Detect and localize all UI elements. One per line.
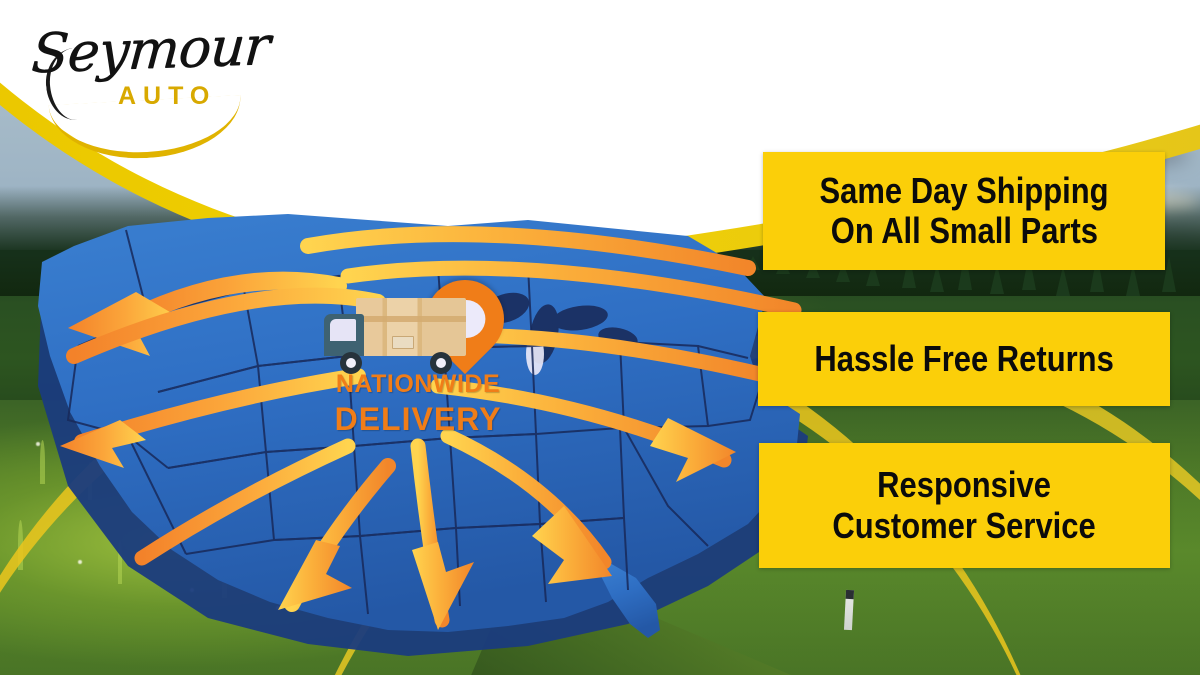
nationwide-delivery-badge: NATIONWIDE DELIVERY — [318, 276, 518, 446]
message-box-hassle-free-returns[interactable]: Hassle Free Returns — [758, 312, 1170, 406]
logo-brand-name: Seymour — [29, 14, 271, 85]
truck-window — [330, 319, 356, 341]
message-box-same-day-shipping[interactable]: Same Day Shipping On All Small Parts — [763, 152, 1165, 270]
badge-text-block: NATIONWIDE DELIVERY — [318, 372, 518, 435]
message-line: Hassle Free Returns — [814, 339, 1113, 379]
message-box-responsive-customer-service[interactable]: Responsive Customer Service — [759, 443, 1170, 568]
brand-logo[interactable]: Seymour AUTO — [26, 16, 256, 128]
message-line: On All Small Parts — [830, 211, 1097, 251]
message-line: Customer Service — [833, 506, 1096, 546]
badge-line-delivery: DELIVERY — [318, 403, 518, 435]
message-line: Same Day Shipping — [819, 171, 1108, 211]
logo-brand-sub: AUTO — [118, 82, 216, 111]
truck-box-tape — [356, 316, 466, 322]
truck-box-label — [392, 336, 414, 349]
promo-banner: Seymour AUTO — [0, 0, 1200, 675]
badge-line-nationwide: NATIONWIDE — [318, 372, 518, 397]
message-line: Responsive — [878, 465, 1052, 505]
